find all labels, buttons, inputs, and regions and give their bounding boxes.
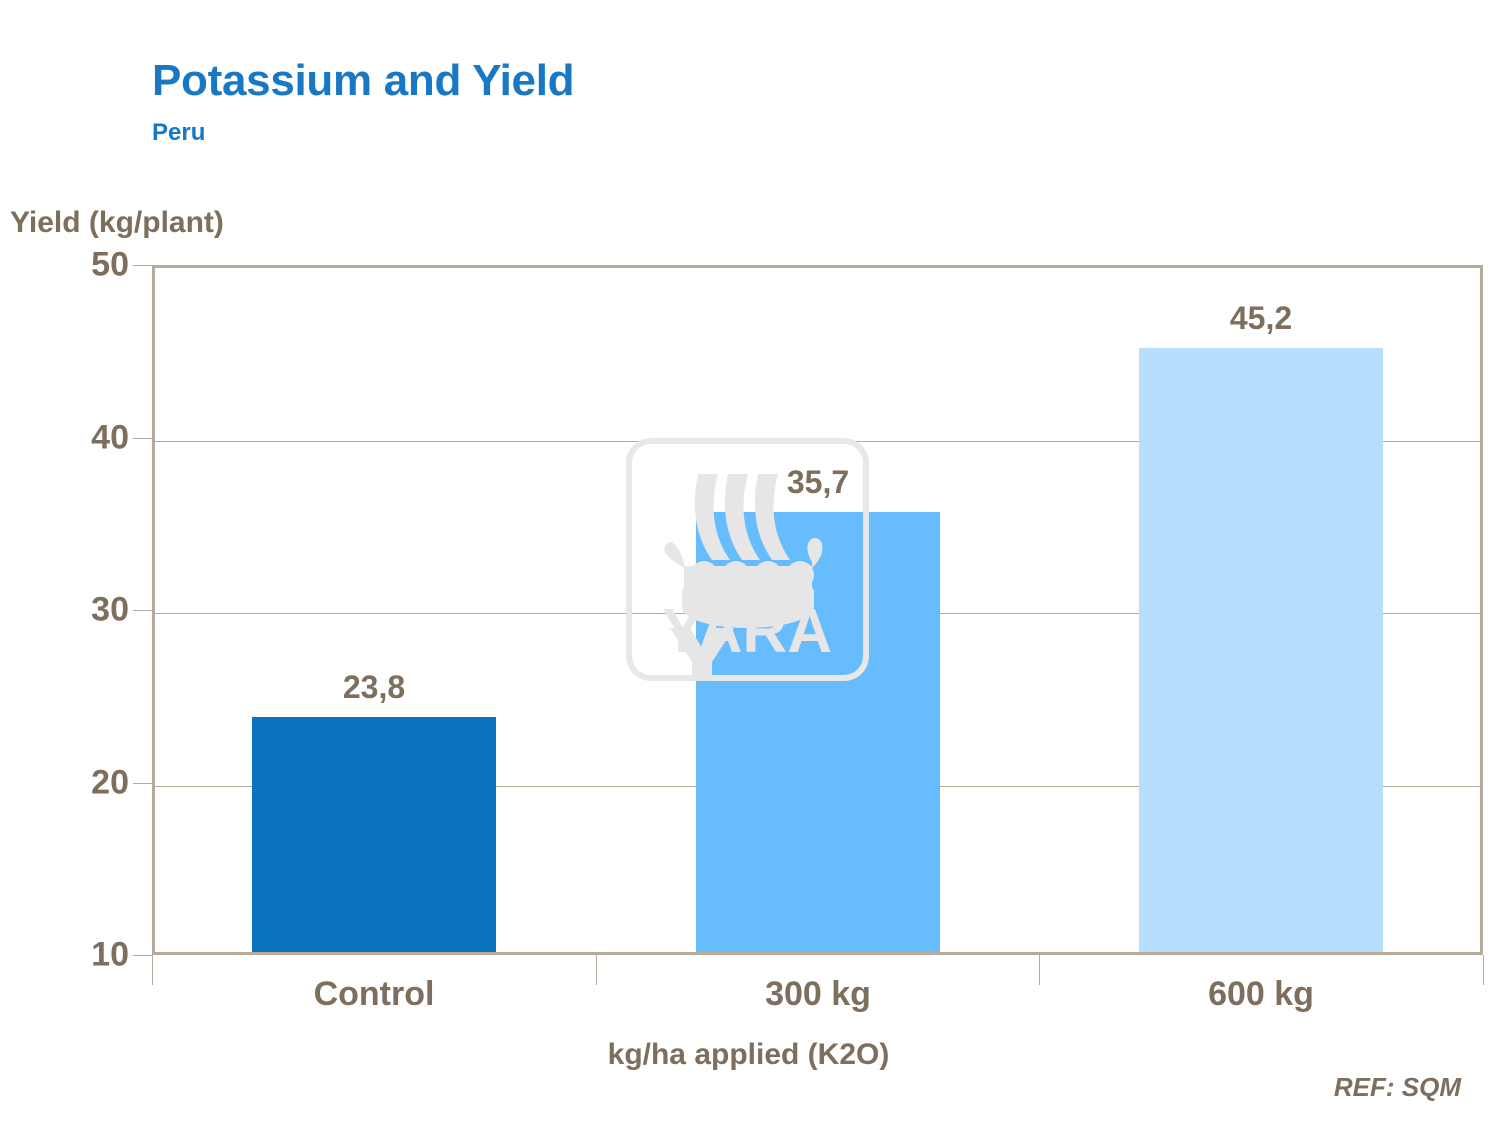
y-tick-label: 10 — [9, 936, 129, 975]
page-title: Potassium and Yield — [152, 56, 574, 106]
y-tick-label: 40 — [9, 418, 129, 457]
bar[interactable] — [1139, 348, 1383, 952]
reference-note: REF: SQM — [1334, 1072, 1461, 1103]
y-tick-label: 20 — [9, 763, 129, 802]
page-subtitle: Peru — [152, 119, 205, 147]
x-axis-title: kg/ha applied (K2O) — [0, 1038, 1497, 1072]
y-tick-mark — [133, 955, 152, 956]
y-tick-mark — [133, 265, 152, 266]
bar[interactable] — [696, 512, 940, 952]
y-tick-mark — [133, 438, 152, 439]
y-axis-title: Yield (kg/plant) — [10, 206, 224, 240]
bar-value-label: 23,8 — [252, 669, 496, 706]
y-tick-label: 50 — [9, 246, 129, 285]
bar-value-label: 45,2 — [1139, 300, 1383, 337]
category-label: 600 kg — [1039, 975, 1483, 1014]
category-label: 300 kg — [596, 975, 1040, 1014]
y-tick-mark — [133, 783, 152, 784]
y-tick-mark — [133, 610, 152, 611]
bar[interactable] — [252, 717, 496, 952]
y-tick-label: 30 — [9, 591, 129, 630]
bar-value-label: 35,7 — [696, 464, 940, 501]
category-label: Control — [152, 975, 596, 1014]
category-separator — [1483, 955, 1484, 985]
